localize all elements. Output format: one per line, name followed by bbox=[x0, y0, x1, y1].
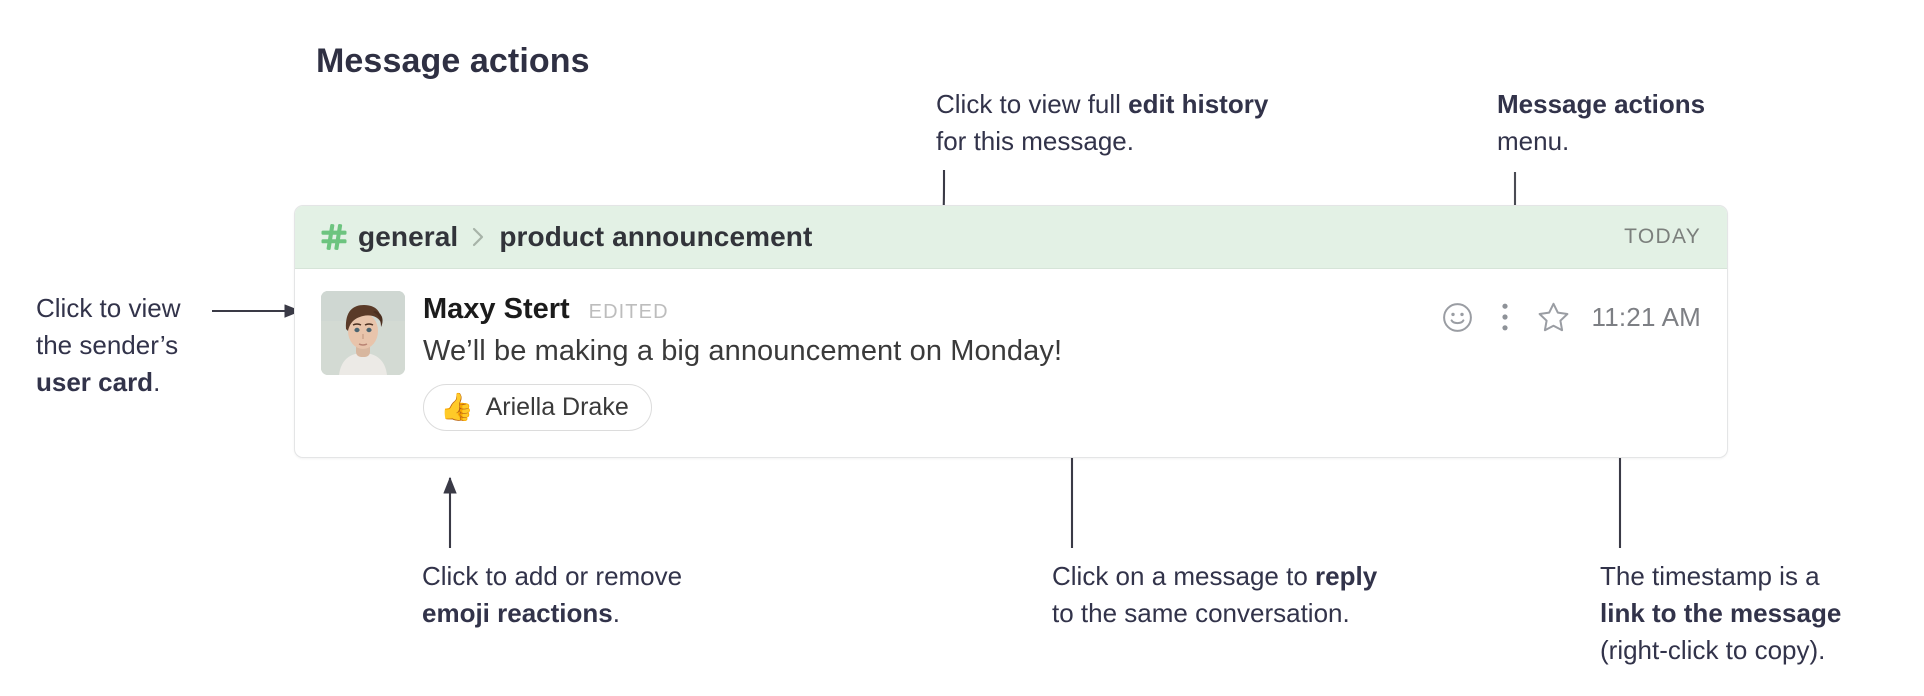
annotation-user-card: Click to view the sender’s user card. bbox=[36, 290, 180, 401]
star-button[interactable] bbox=[1529, 297, 1577, 337]
more-actions-button[interactable] bbox=[1481, 297, 1529, 337]
annotation-reply-bold: reply bbox=[1315, 561, 1377, 591]
annotation-user-card-line1: Click to view bbox=[36, 290, 180, 327]
message-text[interactable]: We’ll be making a big announcement on Mo… bbox=[423, 335, 1701, 368]
annotation-reply-line2: to the same conversation. bbox=[1052, 595, 1377, 632]
thumbs-up-icon: 👍 bbox=[440, 394, 474, 421]
sender-name[interactable]: Maxy Stert bbox=[423, 293, 570, 326]
annotation-emoji-period: . bbox=[613, 598, 620, 628]
annotation-reply-line1-pre: Click on a message to bbox=[1052, 561, 1315, 591]
avatar-image bbox=[321, 291, 405, 375]
annotation-user-card-bold: user card bbox=[36, 367, 153, 397]
annotation-actions-menu: Message actions menu. bbox=[1497, 86, 1705, 160]
annotation-actions-menu-bold: Message actions bbox=[1497, 89, 1705, 119]
page-title: Message actions bbox=[316, 42, 590, 81]
channel-header: general product announcement TODAY bbox=[295, 206, 1727, 269]
emoji-picker-button[interactable] bbox=[1433, 297, 1481, 337]
message-timestamp[interactable]: 11:21 AM bbox=[1591, 302, 1701, 333]
annotation-emoji-bold: emoji reactions bbox=[422, 598, 613, 628]
date-label: TODAY bbox=[1624, 225, 1701, 249]
message-actions-toolbar: 11:21 AM bbox=[1433, 297, 1701, 337]
annotation-edit-history-bold: edit history bbox=[1128, 89, 1268, 119]
annotation-edit-history: Click to view full edit history for this… bbox=[936, 86, 1268, 160]
chevron-right-icon bbox=[472, 227, 485, 247]
annotation-timestamp-line3: (right-click to copy). bbox=[1600, 632, 1841, 669]
topic-name[interactable]: product announcement bbox=[499, 221, 812, 253]
annotation-emoji-reactions: Click to add or remove emoji reactions. bbox=[422, 558, 682, 632]
hash-icon bbox=[321, 223, 347, 251]
message-card: general product announcement TODAY bbox=[294, 205, 1728, 458]
annotation-actions-menu-line2: menu. bbox=[1497, 123, 1705, 160]
emoji-reaction-pill[interactable]: 👍 Ariella Drake bbox=[423, 384, 652, 431]
annotation-user-card-line2: the sender’s bbox=[36, 327, 180, 364]
annotation-timestamp: The timestamp is a link to the message (… bbox=[1600, 558, 1841, 669]
annotation-timestamp-bold: link to the message bbox=[1600, 598, 1841, 628]
message-row[interactable]: Maxy Stert EDITED We’ll be making a big … bbox=[295, 269, 1727, 431]
annotation-reply: Click on a message to reply to the same … bbox=[1052, 558, 1377, 632]
annotation-edit-history-line2: for this message. bbox=[936, 123, 1268, 160]
vertical-dots-icon bbox=[1500, 302, 1510, 332]
edited-label[interactable]: EDITED bbox=[589, 301, 669, 324]
star-outline-icon bbox=[1537, 301, 1570, 334]
avatar[interactable] bbox=[321, 291, 405, 375]
annotation-emoji-line1: Click to add or remove bbox=[422, 558, 682, 595]
reaction-user-name: Ariella Drake bbox=[486, 393, 629, 422]
smiley-face-icon bbox=[1442, 302, 1473, 333]
annotation-timestamp-line1: The timestamp is a bbox=[1600, 558, 1841, 595]
annotation-user-card-period: . bbox=[153, 367, 160, 397]
channel-name[interactable]: general bbox=[358, 221, 458, 253]
annotation-edit-history-line1-pre: Click to view full bbox=[936, 89, 1128, 119]
